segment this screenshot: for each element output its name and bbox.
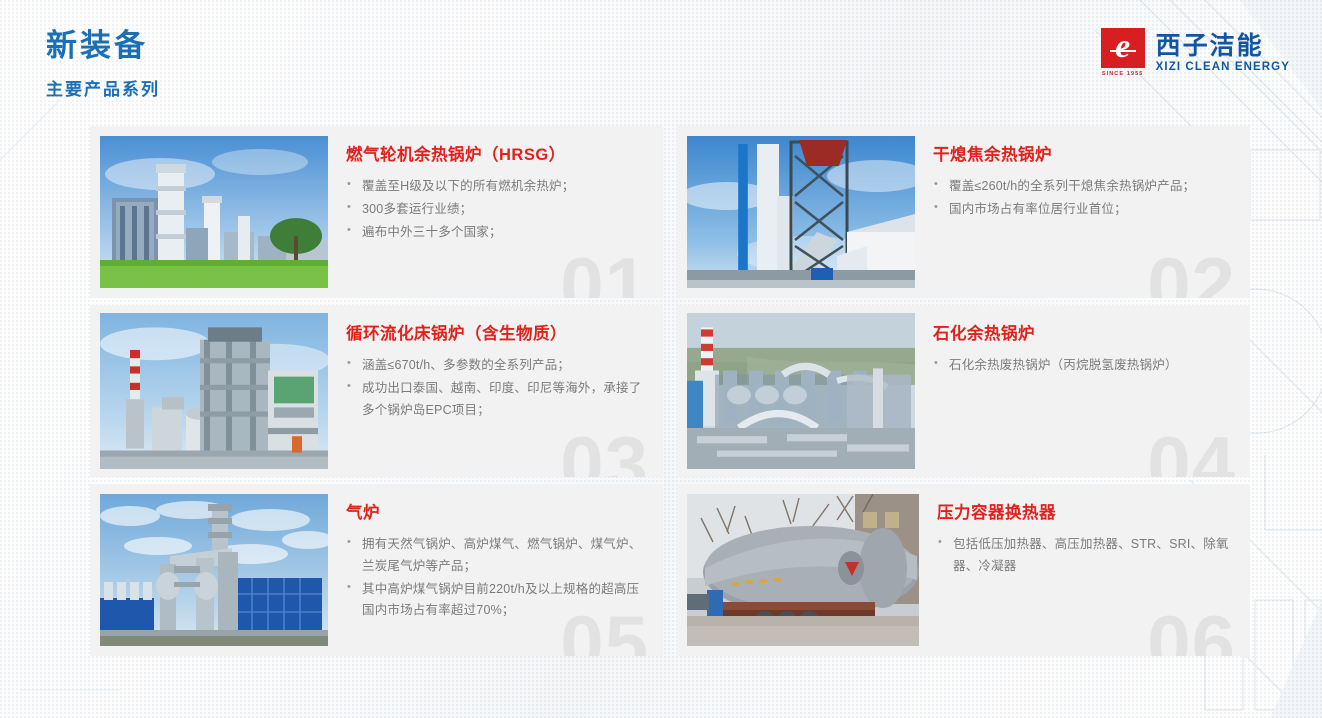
- card-bullet: 覆盖至H级及以下的所有燃机余热炉；: [346, 176, 647, 198]
- card-body: 气炉 拥有天然气锅炉、高炉煤气、燃气锅炉、煤气炉、兰炭尾气炉等产品； 其中高炉煤…: [328, 484, 663, 656]
- logo-since-text: SINCE 1955: [1102, 71, 1144, 77]
- card-bullet: 拥有天然气锅炉、高炉煤气、燃气锅炉、煤气炉、兰炭尾气炉等产品；: [346, 534, 647, 578]
- card-bullet-list: 覆盖至H级及以下的所有燃机余热炉； 300多套运行业绩； 遍布中外三十多个国家；: [346, 176, 647, 245]
- card-bullet: 遍布中外三十多个国家；: [346, 222, 647, 244]
- card-body: 循环流化床锅炉（含生物质） 涵盖≤670t/h、多参数的全系列产品； 成功出口泰…: [328, 305, 663, 477]
- card-title: 燃气轮机余热锅炉（HRSG）: [346, 146, 647, 166]
- product-card[interactable]: 02: [677, 126, 1250, 298]
- card-body: 干熄焦余热锅炉 覆盖≤260t/h的全系列干熄焦余热锅炉产品； 国内市场占有率位…: [915, 126, 1250, 298]
- card-bullet: 国内市场占有率位居行业首位；: [933, 199, 1234, 221]
- product-card[interactable]: 04: [677, 305, 1250, 477]
- petrochemical-waste-heat-boiler-photo: [687, 313, 915, 469]
- card-body: 燃气轮机余热锅炉（HRSG） 覆盖至H级及以下的所有燃机余热炉； 300多套运行…: [328, 126, 663, 298]
- gas-turbine-hrsg-plant-photo: [100, 136, 328, 288]
- logo-wordmark: 西子洁能 XIZI CLEAN ENERGY: [1156, 33, 1290, 73]
- product-card[interactable]: 05: [90, 484, 663, 656]
- page-subtitle: 主要产品系列: [46, 75, 160, 100]
- card-body: 压力容器换热器 包括低压加热器、高压加热器、STR、SRI、除氧器、冷凝器: [919, 484, 1250, 656]
- pressure-vessel-heat-exchanger-photo: [687, 494, 919, 646]
- card-bullet: 涵盖≤670t/h、多参数的全系列产品；: [346, 355, 647, 377]
- gas-fired-boiler-photo: [100, 494, 328, 646]
- card-title: 石化余热锅炉: [933, 325, 1234, 345]
- product-card[interactable]: 06: [677, 484, 1250, 656]
- card-bullet: 包括低压加热器、高压加热器、STR、SRI、除氧器、冷凝器: [937, 534, 1234, 578]
- card-title: 干熄焦余热锅炉: [933, 146, 1234, 166]
- product-card[interactable]: 03: [90, 305, 663, 477]
- logo-mark: e SINCE 1955: [1100, 28, 1146, 77]
- card-bullet-list: 覆盖≤260t/h的全系列干熄焦余热锅炉产品； 国内市场占有率位居行业首位；: [933, 176, 1234, 222]
- card-bullet: 其中高炉煤气锅炉目前220t/h及以上规格的超高压国内市场占有率超过70%；: [346, 579, 647, 623]
- card-bullet: 成功出口泰国、越南、印度、印尼等海外，承接了多个锅炉岛EPC项目；: [346, 378, 647, 422]
- product-card-grid: 01: [90, 126, 1250, 656]
- title-block: 新装备 主要产品系列: [46, 28, 160, 100]
- logo-letter: e: [1115, 30, 1130, 64]
- brand-logo: e SINCE 1955 西子洁能 XIZI CLEAN ENERGY: [1100, 28, 1290, 77]
- card-body: 石化余热锅炉 石化余热废热锅炉（丙烷脱氢废热锅炉）: [915, 305, 1250, 477]
- page-title: 新装备: [46, 28, 160, 65]
- card-bullet: 300多套运行业绩；: [346, 199, 647, 221]
- card-bullet-list: 包括低压加热器、高压加热器、STR、SRI、除氧器、冷凝器: [937, 534, 1234, 579]
- card-title: 气炉: [346, 504, 647, 524]
- card-bullet: 覆盖≤260t/h的全系列干熄焦余热锅炉产品；: [933, 176, 1234, 198]
- card-bullet: 石化余热废热锅炉（丙烷脱氢废热锅炉）: [933, 355, 1234, 377]
- logo-name-cn: 西子洁能: [1156, 33, 1290, 60]
- page-header: 新装备 主要产品系列 e SINCE 1955 西子洁能 XIZI CLEAN …: [0, 0, 1322, 120]
- card-bullet-list: 涵盖≤670t/h、多参数的全系列产品； 成功出口泰国、越南、印度、印尼等海外，…: [346, 355, 647, 423]
- circulating-fluidized-bed-boiler-photo: [100, 313, 328, 469]
- card-bullet-list: 拥有天然气锅炉、高炉煤气、燃气锅炉、煤气炉、兰炭尾气炉等产品； 其中高炉煤气锅炉…: [346, 534, 647, 624]
- product-card[interactable]: 01: [90, 126, 663, 298]
- logo-name-en: XIZI CLEAN ENERGY: [1156, 61, 1290, 73]
- logo-e-icon: e: [1101, 28, 1145, 68]
- coke-dry-quenching-boiler-photo: [687, 136, 915, 288]
- card-title: 压力容器换热器: [937, 504, 1234, 524]
- card-title: 循环流化床锅炉（含生物质）: [346, 325, 647, 345]
- card-bullet-list: 石化余热废热锅炉（丙烷脱氢废热锅炉）: [933, 355, 1234, 378]
